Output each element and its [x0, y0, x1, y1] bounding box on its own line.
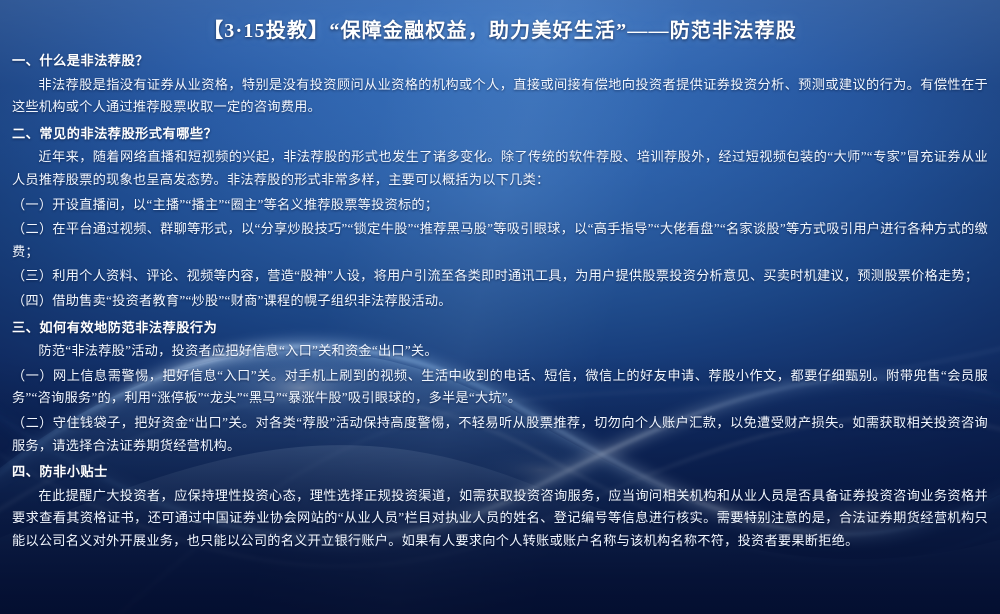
- section-paragraph: 防范“非法荐股”活动，投资者应把好信息“入口”关和资金“出口”关。: [12, 340, 988, 363]
- section-paragraph: 在此提醒广大投资者，应保持理性投资心态，理性选择正规投资渠道，如需获取投资咨询服…: [12, 485, 988, 553]
- list-item: （一）开设直播间，以“主播”“播主”“圈主”等名义推荐股票等投资标的；: [12, 194, 988, 217]
- section-heading: 一、什么是非法荐股？: [12, 50, 988, 73]
- list-item: （四）借助售卖“投资者教育”“炒股”“财商”课程的幌子组织非法荐股活动。: [12, 290, 988, 313]
- section-1: 一、什么是非法荐股？ 非法荐股是指没有证券从业资格，特别是没有投资顾问从业资格的…: [12, 50, 988, 119]
- page-title: 【3·15投教】“保障金融权益，助力美好生活”——防范非法荐股: [203, 14, 797, 43]
- section-paragraph: 近年来，随着网络直播和短视频的兴起，非法荐股的形式也发生了诸多变化。除了传统的软…: [12, 146, 988, 191]
- list-item: （一）网上信息需警惕，把好信息“入口”关。对手机上刷到的视频、生活中收到的电话、…: [12, 365, 988, 410]
- section-4: 四、防非小贴士 在此提醒广大投资者，应保持理性投资心态，理性选择正规投资渠道，如…: [12, 461, 988, 552]
- section-heading: 四、防非小贴士: [12, 461, 988, 484]
- article-body: 一、什么是非法荐股？ 非法荐股是指没有证券从业资格，特别是没有投资顾问从业资格的…: [12, 50, 988, 554]
- list-item: （三）利用个人资料、评论、视频等内容，营造“股神”人设，将用户引流至各类即时通讯…: [12, 265, 988, 288]
- section-2: 二、常见的非法荐股形式有哪些？ 近年来，随着网络直播和短视频的兴起，非法荐股的形…: [12, 123, 988, 313]
- list-item: （二）守住钱袋子，把好资金“出口”关。对各类“荐股”活动保持高度警惕，不轻易听从…: [12, 412, 988, 457]
- list-item: （二）在平台通过视频、群聊等形式，以“分享炒股技巧”“锁定牛股”“推荐黑马股”等…: [12, 218, 988, 263]
- section-3: 三、如何有效地防范非法荐股行为 防范“非法荐股”活动，投资者应把好信息“入口”关…: [12, 317, 988, 458]
- section-heading: 三、如何有效地防范非法荐股行为: [12, 317, 988, 340]
- poster-canvas: 【3·15投教】“保障金融权益，助力美好生活”——防范非法荐股 一、什么是非法荐…: [0, 0, 1000, 614]
- section-heading: 二、常见的非法荐股形式有哪些？: [12, 123, 988, 146]
- section-paragraph: 非法荐股是指没有证券从业资格，特别是没有投资顾问从业资格的机构或个人，直接或间接…: [12, 74, 988, 119]
- page-title-container: 【3·15投教】“保障金融权益，助力美好生活”——防范非法荐股: [0, 14, 1000, 43]
